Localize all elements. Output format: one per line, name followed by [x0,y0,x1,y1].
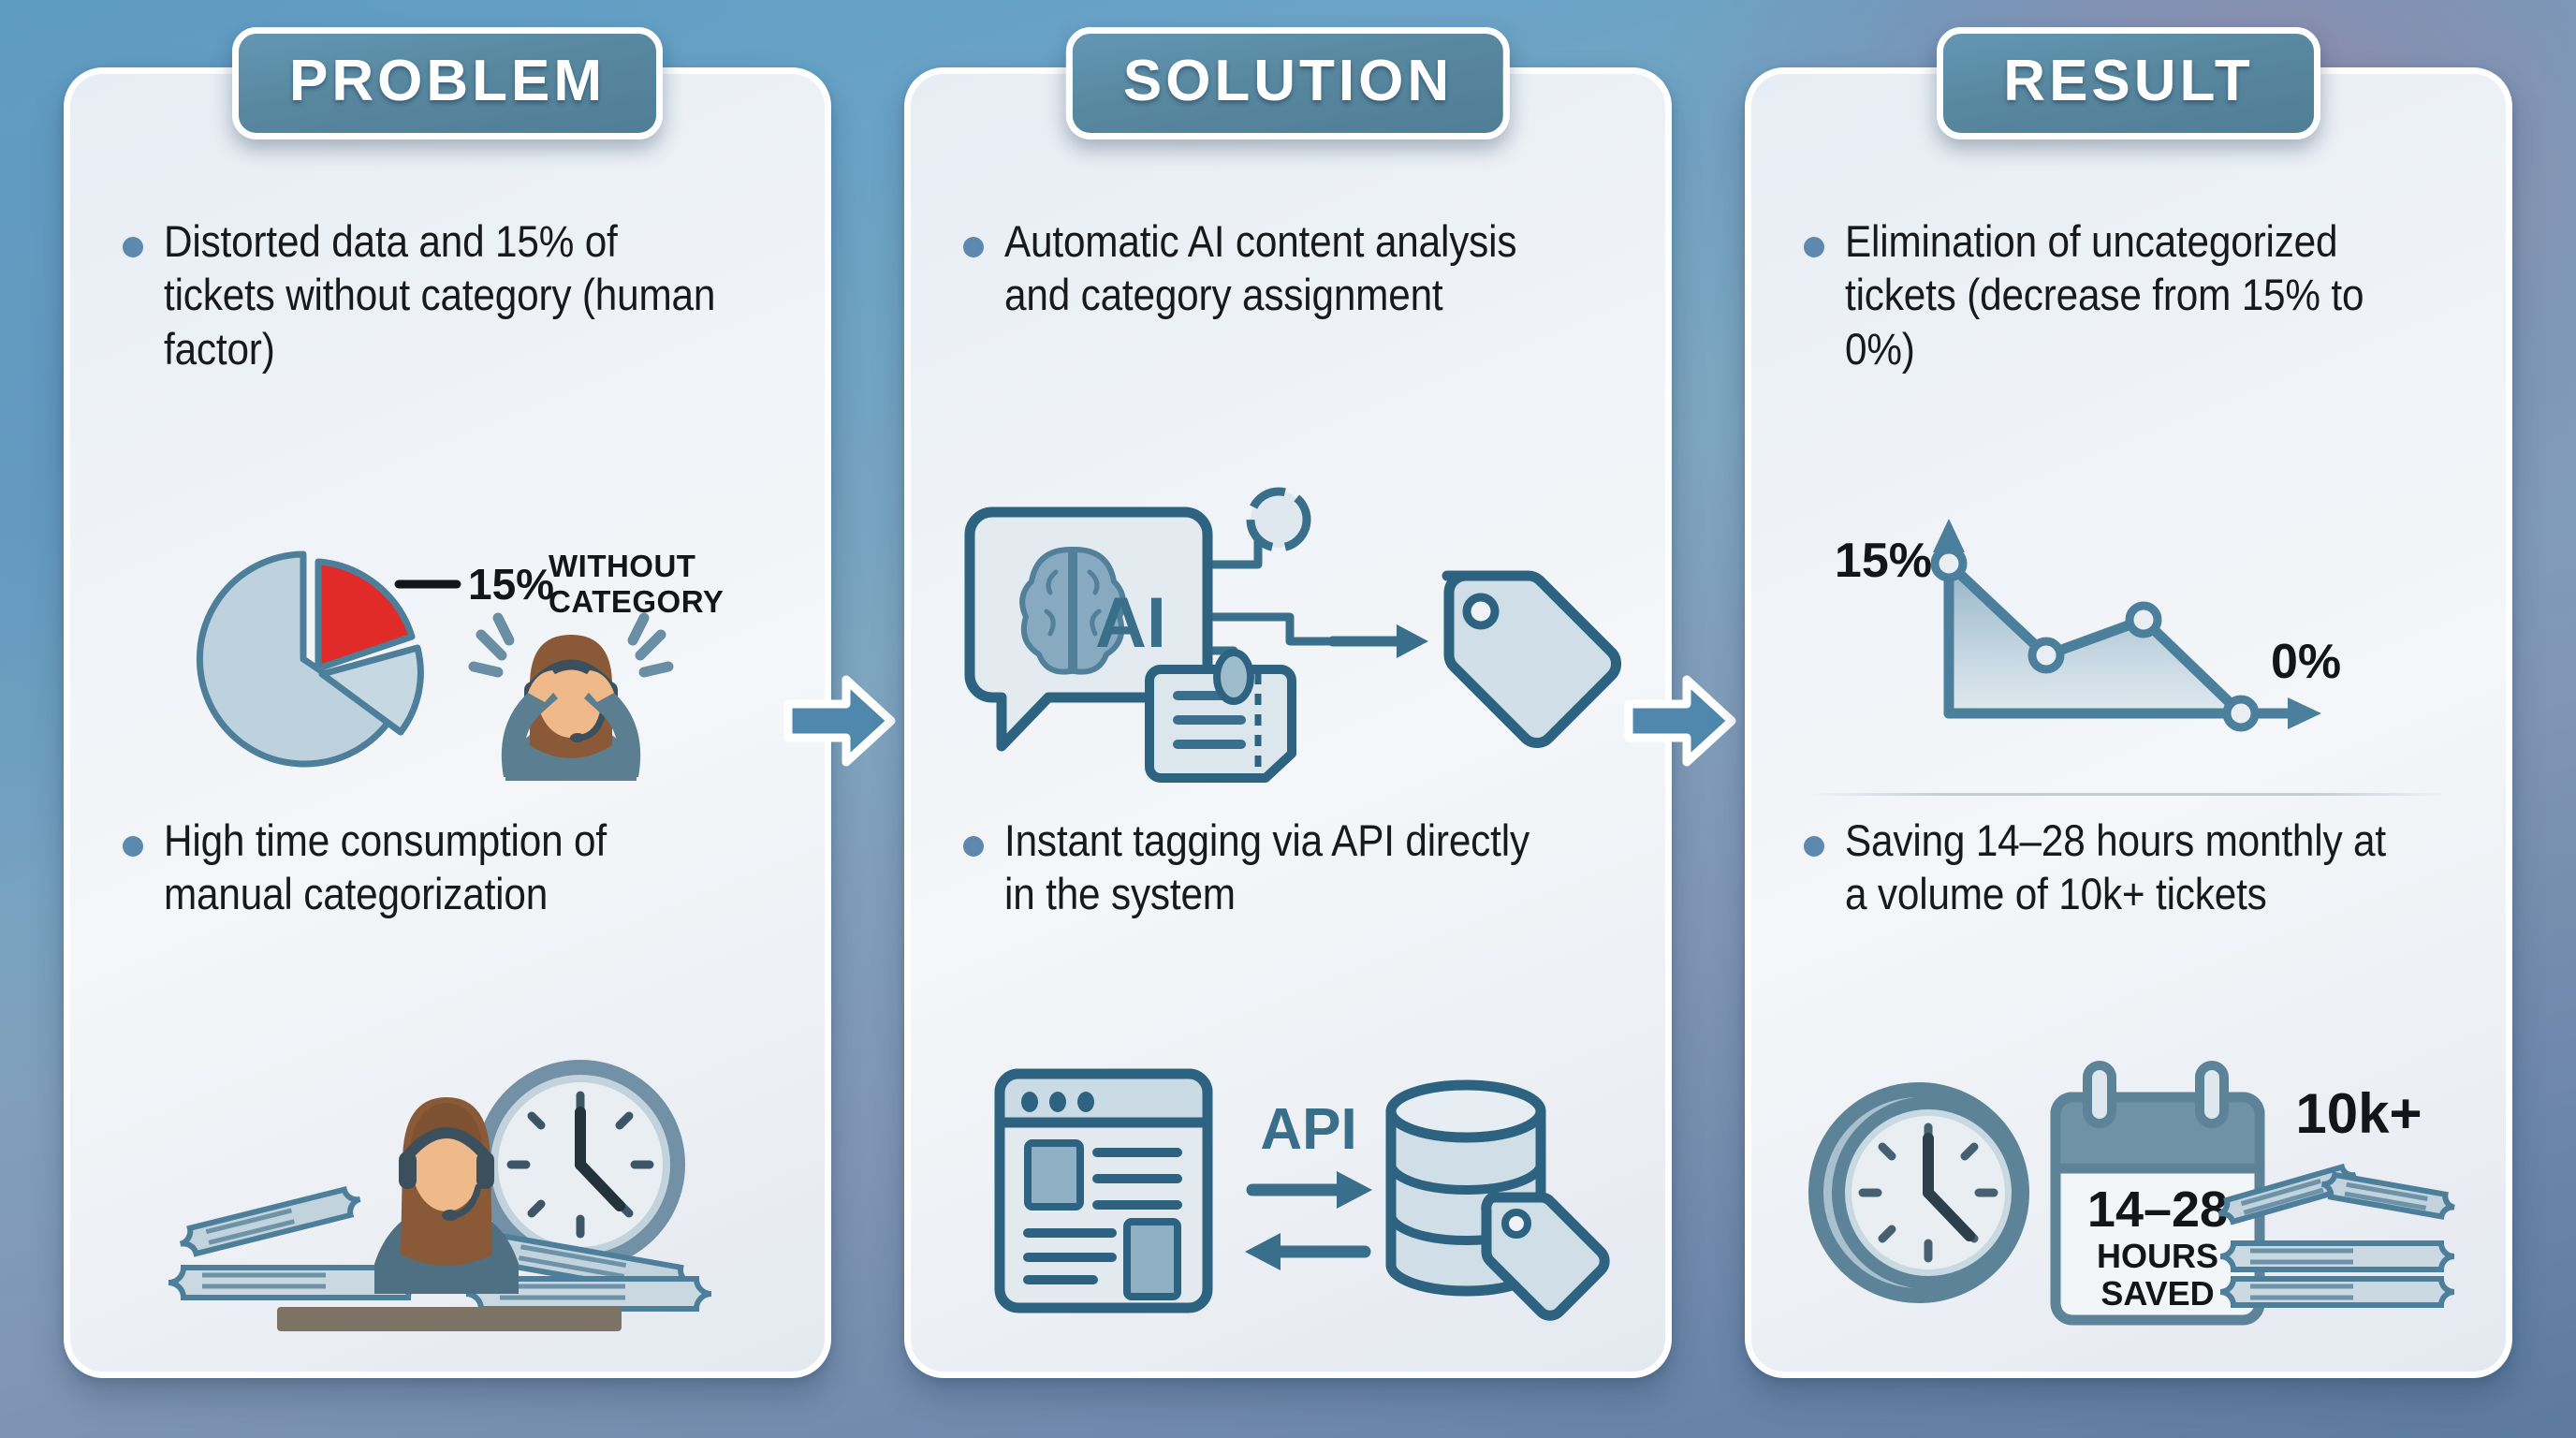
clock-icon [1816,1090,2022,1296]
clock-icon [483,1067,678,1262]
declining-line-chart-graphic: 15% 0% [1801,491,2456,771]
node-icon [1251,492,1307,548]
chart-end-label: 0% [2271,635,2341,689]
desk [277,1307,622,1331]
solution-art-api-sync: API [911,1029,1665,1347]
browser-api-database-tag-graphic: API [979,1038,1597,1338]
calendar-icon: 14–28 HOURS SAVED [2056,1065,2260,1320]
result-art-line-chart: 15% 0% [1751,477,2506,785]
infographic-board: PROBLEM Distorted data and 15% of ticket… [0,0,2576,1438]
problem-bullet-group-top: Distorted data and 15% of tickets withou… [123,214,787,375]
column-result: RESULT Elimination of uncategorized tick… [1745,67,2512,1378]
agent-buried-in-tickets-graphic [157,1034,738,1343]
list-item: Distorted data and 15% of tickets withou… [123,214,787,375]
arrow-left-icon [1245,1233,1365,1270]
arrow-right-icon [1333,624,1428,658]
problem-art-overloaded-agent [70,1029,825,1347]
bullet-text: Distorted data and 15% of tickets withou… [164,214,724,375]
bullet-dot-icon [1804,836,1824,857]
bullet-dot-icon [123,237,143,257]
badge-label: SOLUTION [1123,52,1453,110]
calendar-line-1: HOURS [2097,1237,2218,1275]
ai-label: AI [1095,583,1166,663]
calendar-value: 14–28 [2087,1181,2228,1238]
pie-callout-label-line1: WITHOUT [549,549,695,583]
chart-start-label: 15% [1835,534,1932,588]
problem-art-pie-chart: 15% WITHOUT CATEGORY [70,477,825,785]
badge-label: PROBLEM [289,52,606,110]
section-divider [1808,793,2450,796]
arrow-right-icon [788,680,891,762]
list-item: Instant tagging via API directly in the … [963,814,1628,921]
bullet-text: Automatic AI content analysis and catego… [1004,214,1565,322]
column-problem: PROBLEM Distorted data and 15% of ticket… [64,67,831,1378]
pie-callout-value: 15% [468,560,554,609]
tickets-volume-label: 10k+ [2295,1082,2422,1145]
list-item: Saving 14–28 hours monthly at a volume o… [1804,814,2468,921]
ai-brain-speech-bubble-to-tag-graphic: AI [960,486,1616,776]
solution-bullet-group-bottom: Instant tagging via API directly in the … [963,814,1628,921]
solution-bullet-group-top: Automatic AI content analysis and catego… [963,214,1628,322]
frustrated-agent-icon [474,618,668,781]
arrow-right-icon [1252,1171,1372,1209]
api-label: API [1260,1097,1356,1162]
arrow-solution-to-result [1625,672,1735,770]
bullet-text: Instant tagging via API directly in the … [1004,814,1565,921]
result-art-time-saved: 14–28 HOURS SAVED [1751,1029,2506,1347]
list-item: Elimination of uncategorized tickets (de… [1804,214,2468,375]
badge-label: RESULT [1994,52,2263,110]
column-badge-solution: SOLUTION [1066,27,1510,139]
result-bullet-group-bottom: Saving 14–28 hours monthly at a volume o… [1804,814,2468,921]
solution-art-ai-tagging: AI [911,477,1665,785]
bullet-text: Elimination of uncategorized tickets (de… [1845,214,2406,375]
arrow-problem-to-solution [784,672,895,770]
clock-calendar-tickets-graphic: 14–28 HOURS SAVED [1801,1034,2456,1343]
column-solution: SOLUTION Automatic AI content analysis a… [904,67,1672,1378]
column-badge-problem: PROBLEM [232,27,663,139]
problem-bullet-group-bottom: High time consumption of manual categori… [123,814,787,921]
list-item: Automatic AI content analysis and catego… [963,214,1628,322]
bullet-dot-icon [963,836,984,857]
pie-chart-frustrated-agent-graphic: 15% WITHOUT CATEGORY [120,481,775,781]
tag-icon [1447,576,1617,743]
column-badge-result: RESULT [1937,27,2320,139]
pie-callout-label-line2: CATEGORY [549,584,724,619]
arrow-right-icon [1629,680,1732,762]
browser-window-icon [1000,1074,1207,1308]
bullet-text: High time consumption of manual categori… [164,814,724,921]
bullet-dot-icon [123,836,143,857]
bullet-dot-icon [1804,237,1824,257]
bullet-dot-icon [963,237,984,257]
calendar-line-2: SAVED [2100,1274,2214,1313]
document-icon [1149,653,1292,778]
result-bullet-group-top: Elimination of uncategorized tickets (de… [1804,214,2468,375]
tag-icon [1486,1197,1604,1315]
list-item: High time consumption of manual categori… [123,814,787,921]
bullet-text: Saving 14–28 hours monthly at a volume o… [1845,814,2406,921]
